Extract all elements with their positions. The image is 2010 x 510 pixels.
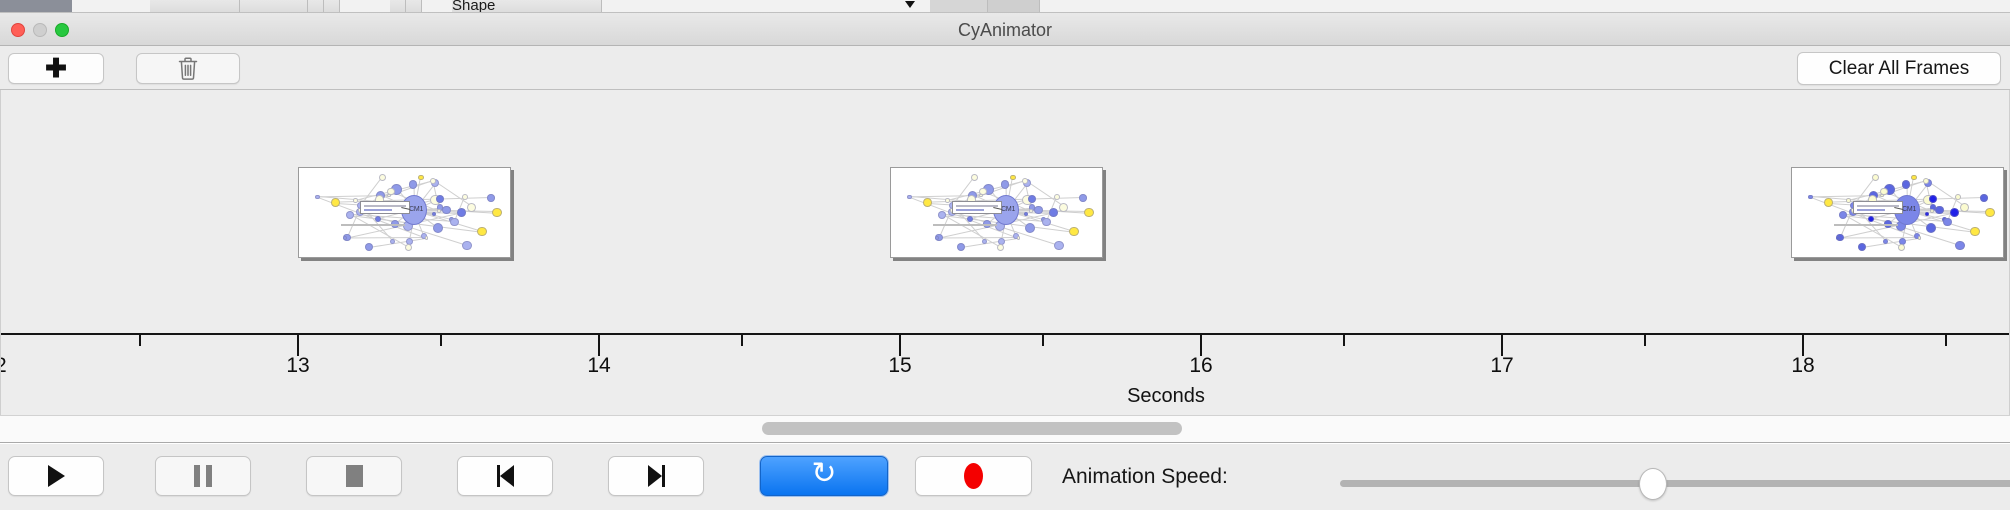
network-edge <box>1838 237 1919 239</box>
ruler-tick-minor <box>1644 335 1646 346</box>
window-title: CyAnimator <box>0 20 2010 41</box>
ruler-tick-label: 18 <box>1791 354 1814 378</box>
network-node <box>979 194 983 198</box>
ruler-tick-label: 17 <box>1490 354 1513 378</box>
ruler-tick-minor <box>440 335 442 346</box>
network-node <box>1980 194 1988 202</box>
stop-icon <box>346 465 363 487</box>
pause-icon <box>194 465 212 487</box>
pause-button[interactable] <box>155 456 251 496</box>
scrollbar-thumb[interactable] <box>762 422 1182 435</box>
network-node <box>1839 211 1847 219</box>
ruler-tick-label: 16 <box>1189 354 1212 378</box>
stop-button[interactable] <box>306 456 402 496</box>
timeline-track[interactable]: MCM1MCM1MCM1 12131415161718 Seconds <box>0 90 2010 415</box>
network-node <box>1923 178 1929 184</box>
record-icon <box>964 463 983 489</box>
network-node <box>1898 244 1905 251</box>
network-node <box>353 198 358 203</box>
network-node <box>1918 236 1922 240</box>
ruler-tick-label: 14 <box>587 354 610 378</box>
ruler-tick-label: 13 <box>286 354 309 378</box>
network-node <box>1042 218 1051 227</box>
network-node <box>1084 208 1093 217</box>
transport-bar: ↻ Animation Speed: <box>0 444 2010 510</box>
network-node <box>1950 208 1959 217</box>
network-node <box>1079 194 1087 202</box>
cyanimator-window: Shape CyAnimator ✚ Clear All Frames MCM1… <box>0 0 2010 510</box>
network-node <box>436 195 444 203</box>
title-bar: CyAnimator <box>0 13 2010 46</box>
network-node <box>938 211 946 219</box>
ruler-tick-major <box>1501 335 1503 356</box>
next-frame-button[interactable] <box>608 456 704 496</box>
delete-frame-button[interactable] <box>136 53 240 84</box>
network-node <box>462 241 472 251</box>
network-node <box>1069 227 1079 237</box>
network-node <box>346 211 354 219</box>
network-node <box>957 243 965 251</box>
ruler-tick-major <box>1802 335 1804 356</box>
network-node <box>1001 180 1010 189</box>
axis-title: Seconds <box>1127 385 1205 408</box>
network-edge <box>937 237 1018 239</box>
previous-frame-button[interactable] <box>457 456 553 496</box>
network-caption <box>1834 224 1898 226</box>
timeline-frame-thumbnail[interactable]: MCM1 <box>1791 167 2004 258</box>
network-node <box>1926 223 1936 233</box>
network-node <box>387 194 391 198</box>
network-node <box>462 194 468 200</box>
network-node <box>1017 236 1021 240</box>
network-node <box>1911 175 1917 181</box>
network-node <box>487 194 495 202</box>
network-node <box>1970 227 1980 237</box>
network-node <box>432 212 436 216</box>
ruler-tick-minor <box>1042 335 1044 346</box>
animation-speed-label: Animation Speed: <box>1062 465 1228 489</box>
network-node <box>1824 198 1833 207</box>
ruler-tick-major <box>899 335 901 356</box>
network-edge <box>345 237 426 239</box>
network-node <box>1024 212 1028 216</box>
frame-toolbar: ✚ Clear All Frames <box>0 46 2010 90</box>
background-window-strip: Shape <box>0 0 2010 13</box>
ruler-baseline <box>1 333 2010 335</box>
network-node <box>492 208 501 217</box>
network-node <box>430 178 436 184</box>
ruler-tick-major <box>598 335 600 356</box>
timeline-frame-thumbnail[interactable]: MCM1 <box>890 167 1103 258</box>
network-node <box>1943 218 1952 227</box>
network-node <box>1872 174 1879 181</box>
ruler-tick-label: 15 <box>888 354 911 378</box>
clear-all-frames-button[interactable]: Clear All Frames <box>1797 52 2001 85</box>
animation-speed-slider-knob[interactable] <box>1639 468 1667 500</box>
network-node <box>1925 212 1929 216</box>
network-node <box>379 174 386 181</box>
network-node <box>1858 243 1866 251</box>
network-node <box>477 227 487 237</box>
background-tab <box>0 0 72 13</box>
skip-back-icon <box>497 465 514 487</box>
loop-icon: ↻ <box>811 464 836 489</box>
network-node <box>1022 178 1028 184</box>
play-button[interactable] <box>8 456 104 496</box>
timeline-frame-thumbnail[interactable]: MCM1 <box>298 167 511 258</box>
network-node <box>967 216 973 222</box>
network-node <box>1880 194 1884 198</box>
network-node <box>365 243 373 251</box>
network-node <box>457 208 466 217</box>
network-edge <box>369 238 426 248</box>
animation-speed-slider-track[interactable] <box>1340 480 2010 487</box>
network-node <box>1010 175 1016 181</box>
ruler-tick-minor <box>741 335 743 346</box>
network-edge <box>1862 238 1919 248</box>
network-node <box>418 175 424 181</box>
network-node <box>945 198 950 203</box>
timeline-scrollbar[interactable] <box>0 415 2010 443</box>
network-node <box>425 236 429 240</box>
network-caption <box>341 224 405 226</box>
network-node <box>1054 194 1060 200</box>
ruler-tick-label: 12 <box>0 354 7 378</box>
network-node <box>1025 223 1035 233</box>
record-button[interactable] <box>915 456 1032 496</box>
network-node <box>1955 241 1965 251</box>
network-node <box>923 198 932 207</box>
network-node <box>375 216 381 222</box>
network-node <box>971 174 978 181</box>
ruler-tick-major <box>1200 335 1202 356</box>
add-frame-button[interactable]: ✚ <box>8 53 104 84</box>
ruler-tick-minor <box>139 335 141 346</box>
network-node <box>1054 241 1064 251</box>
ruler-tick-minor <box>1945 335 1947 346</box>
network-node <box>1028 195 1036 203</box>
network-node <box>1929 195 1937 203</box>
trash-icon <box>177 56 199 81</box>
loop-button[interactable]: ↻ <box>760 456 888 496</box>
network-node <box>409 180 418 189</box>
network-edge <box>961 238 1018 248</box>
network-caption <box>933 224 997 226</box>
network-node <box>997 244 1004 251</box>
play-icon <box>48 465 65 487</box>
network-node <box>433 223 443 233</box>
ruler-tick-major <box>297 335 299 356</box>
network-node <box>331 198 340 207</box>
network-node <box>1985 208 1994 217</box>
network-node <box>1846 198 1851 203</box>
network-node <box>1902 180 1911 189</box>
network-node <box>1868 216 1874 222</box>
network-node <box>450 218 459 227</box>
network-node <box>1955 194 1961 200</box>
background-caret-icon <box>905 1 915 8</box>
network-node <box>405 244 412 251</box>
clear-all-frames-label: Clear All Frames <box>1829 58 1969 80</box>
ruler-tick-minor <box>1343 335 1345 346</box>
network-node <box>1049 208 1058 217</box>
background-window-label: Shape <box>452 0 495 13</box>
skip-forward-icon <box>648 465 665 487</box>
plus-icon: ✚ <box>45 55 67 81</box>
